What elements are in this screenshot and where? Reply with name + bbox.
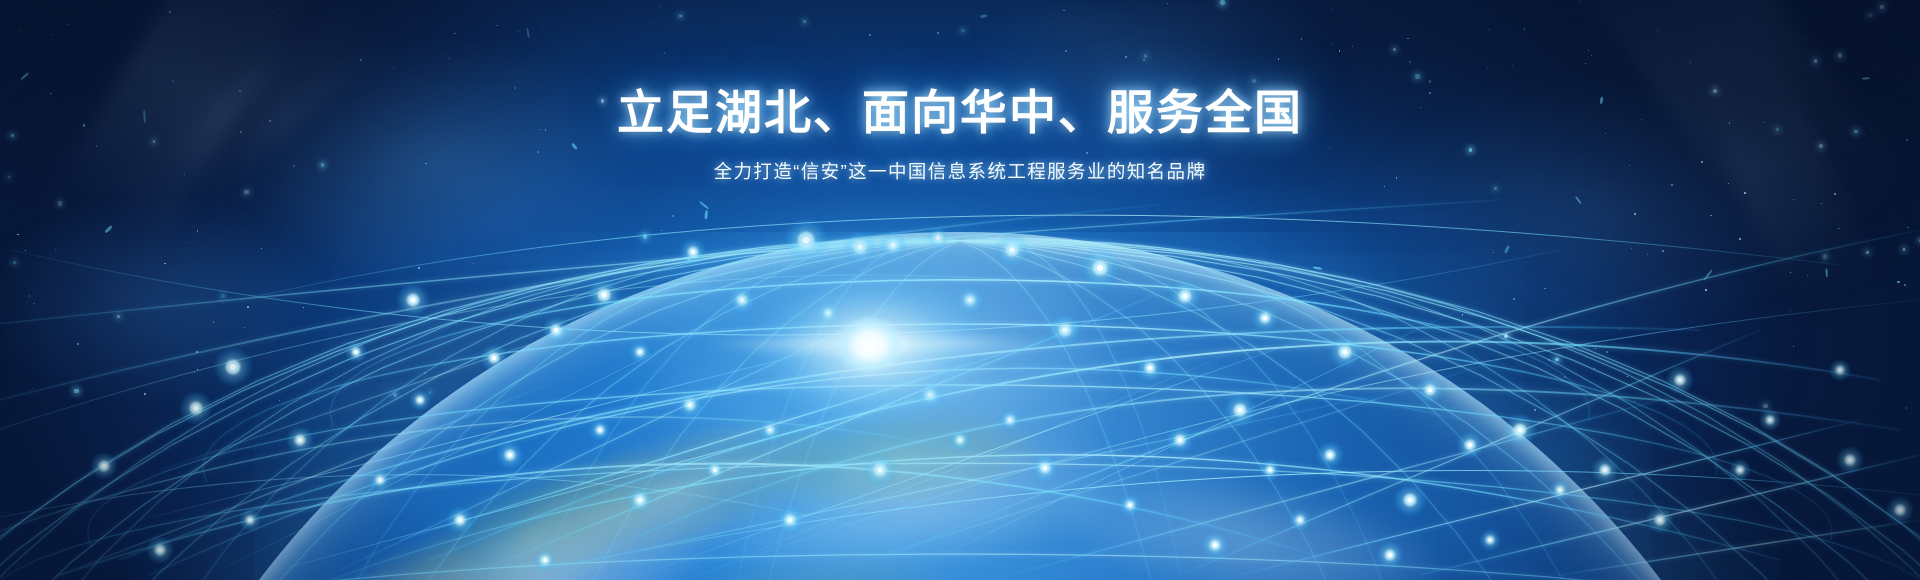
banner-subheadline: 全力打造“信安”这一中国信息系统工程服务业的知名品牌 <box>0 141 1920 186</box>
hero-banner: 立足湖北、面向华中、服务全国 全力打造“信安”这一中国信息系统工程服务业的知名品… <box>0 0 1920 580</box>
banner-headline: 立足湖北、面向华中、服务全国 <box>0 0 1920 141</box>
banner-copy: 立足湖北、面向华中、服务全国 全力打造“信安”这一中国信息系统工程服务业的知名品… <box>0 0 1920 186</box>
